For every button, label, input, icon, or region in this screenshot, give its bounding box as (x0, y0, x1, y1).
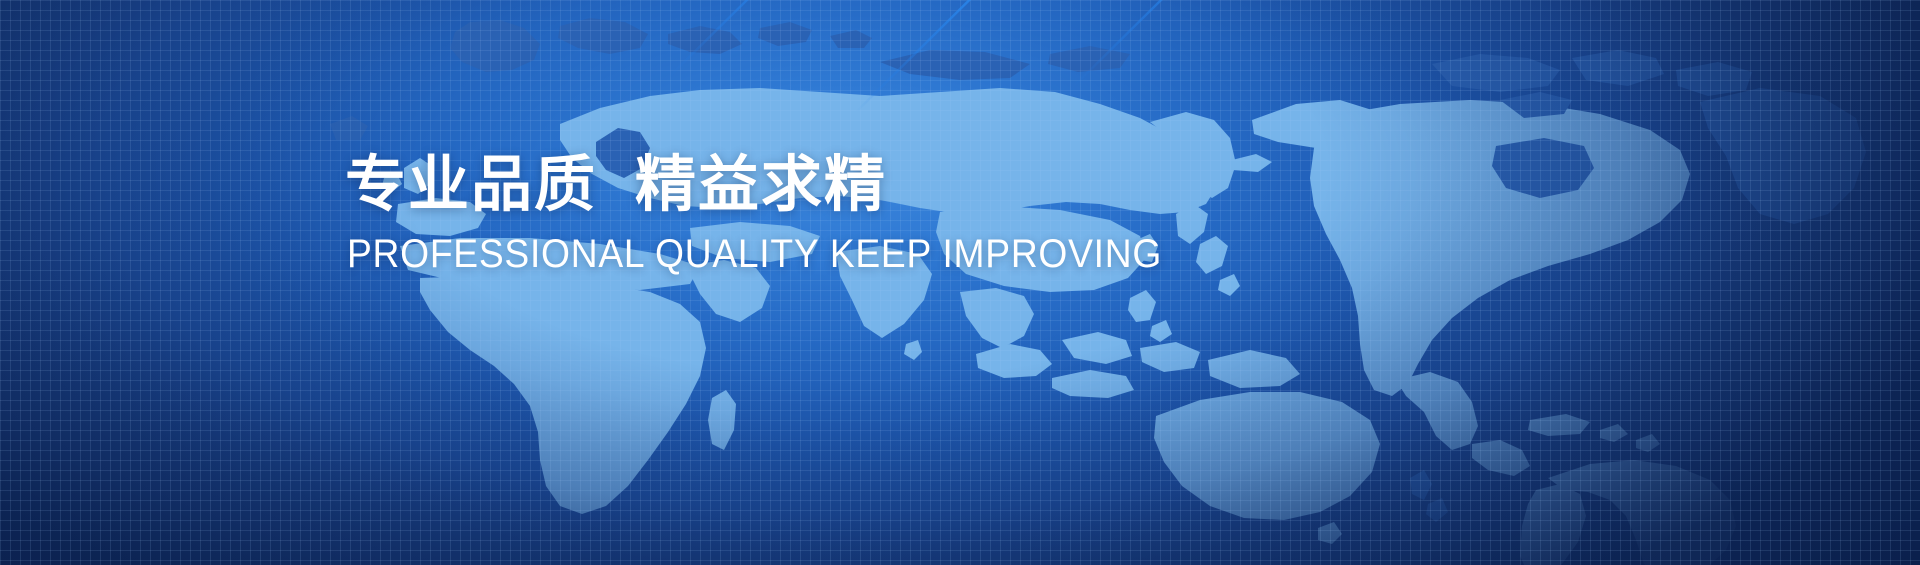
banner-copy: 专业品质 精益求精 PROFESSIONAL QUALITY KEEP IMPR… (345, 152, 1445, 276)
banner-headline-chinese: 专业品质 精益求精 (345, 152, 1445, 218)
background-vignette (0, 0, 1920, 565)
hero-banner: 专业品质 精益求精 PROFESSIONAL QUALITY KEEP IMPR… (0, 0, 1920, 565)
banner-subheadline-english: PROFESSIONAL QUALITY KEEP IMPROVING (347, 232, 1368, 276)
